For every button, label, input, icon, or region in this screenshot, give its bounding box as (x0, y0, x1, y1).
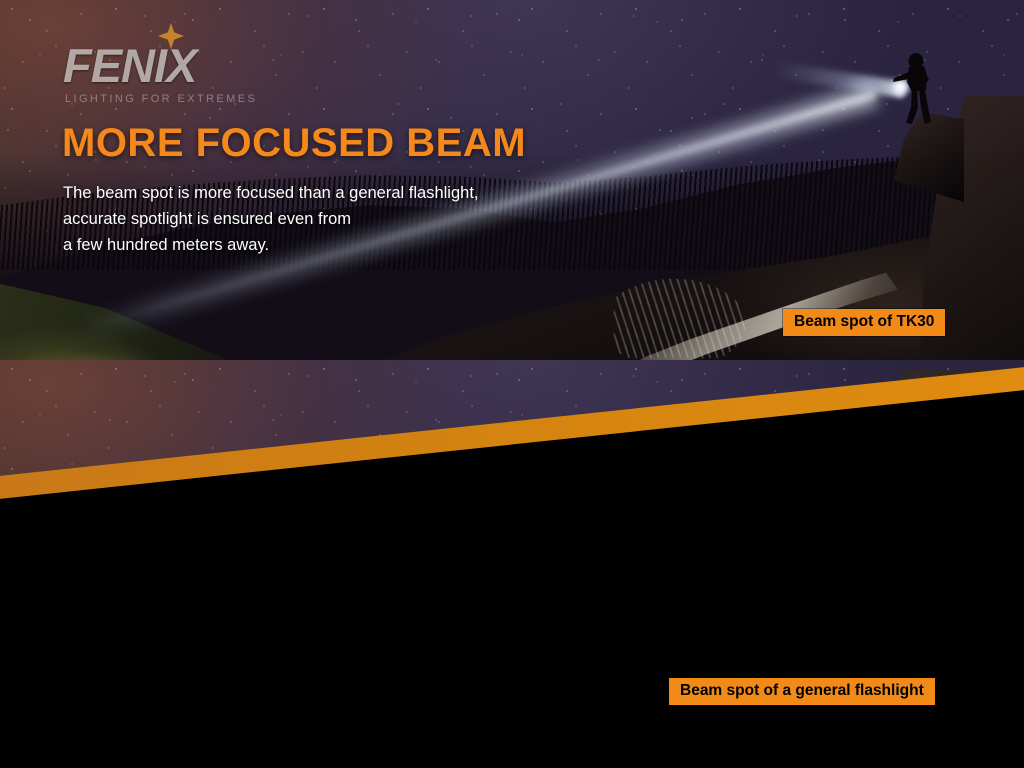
body-copy-line-3: a few hundred meters away. (63, 232, 479, 258)
body-copy-line-2: accurate spotlight is ensured even from (63, 206, 479, 232)
star-sparkle-icon (158, 23, 184, 49)
badge-beam-spot-general: Beam spot of a general flashlight (669, 678, 935, 705)
content-overlay: FENIX LIGHTING FOR EXTREMES MORE FOCUSED… (0, 0, 1024, 768)
page-title: MORE FOCUSED BEAM (62, 121, 526, 166)
brand-wordmark: FENIX (63, 42, 257, 89)
body-copy: The beam spot is more focused than a gen… (63, 180, 479, 258)
poster-canvas: FENIX LIGHTING FOR EXTREMES MORE FOCUSED… (0, 0, 1024, 768)
brand-logo[interactable]: FENIX LIGHTING FOR EXTREMES (63, 42, 257, 105)
badge-beam-spot-tk30: Beam spot of TK30 (783, 309, 945, 336)
body-copy-line-1: The beam spot is more focused than a gen… (63, 180, 479, 206)
brand-tagline: LIGHTING FOR EXTREMES (65, 93, 257, 105)
